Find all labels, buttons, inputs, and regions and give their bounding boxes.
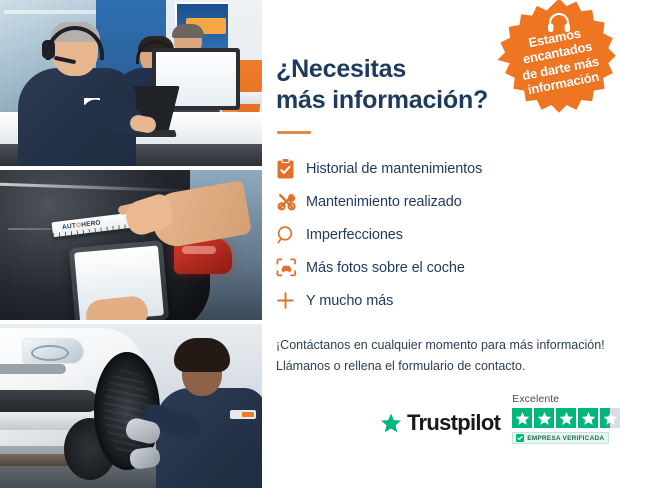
feature-label: Imperfecciones — [306, 227, 403, 243]
feature-label: Mantenimiento realizado — [306, 194, 462, 210]
autohero-more-info-banner: AUTOHERO — [0, 0, 650, 488]
rating-star-2 — [534, 408, 554, 428]
features-list: Historial de mantenimientos M — [276, 152, 650, 317]
feature-item-imperfections: Imperfecciones — [276, 218, 650, 251]
call-center-agents-photo — [0, 0, 262, 166]
rating-star-1 — [512, 408, 532, 428]
rating-star-3 — [556, 408, 576, 428]
title-divider — [277, 131, 311, 134]
car-photo-frame-icon — [276, 258, 306, 277]
car-damage-inspection-photo: AUTOHERO — [0, 170, 262, 320]
tools-cross-icon — [276, 191, 306, 212]
feature-item-more-photos: Más fotos sobre el coche — [276, 251, 650, 284]
verified-business-badge: EMPRESA VERIFICADA — [512, 432, 609, 444]
magnifier-icon — [276, 225, 306, 245]
trustpilot-star-icon — [380, 412, 402, 434]
feature-label: Y mucho más — [306, 293, 393, 309]
check-icon — [516, 434, 524, 442]
trustpilot-widget[interactable]: Trustpilot Excelente — [380, 393, 620, 444]
rating-star-4 — [578, 408, 598, 428]
star-rating — [512, 408, 620, 428]
contact-text: ¡Contáctanos en cualquier momento para m… — [276, 335, 650, 376]
feature-label: Más fotos sobre el coche — [306, 260, 465, 276]
trustpilot-rating: Excelente — [512, 393, 620, 444]
contact-line-1: ¡Contáctanos en cualquier momento para m… — [276, 335, 650, 356]
feature-item-much-more: Y mucho más — [276, 284, 650, 317]
content-panel: ¿Necesitas más información? Historial de… — [262, 0, 650, 488]
rating-star-5 — [600, 408, 620, 428]
verified-label: EMPRESA VERIFICADA — [527, 435, 604, 442]
trustpilot-wordmark: Trustpilot — [407, 410, 500, 436]
rating-label: Excelente — [512, 393, 559, 405]
photo-column: AUTOHERO — [0, 0, 262, 488]
info-badge: Estamos encantados de darte más informac… — [495, 0, 623, 124]
contact-line-2: Llámanos o rellena el formulario de cont… — [276, 356, 650, 377]
feature-label: Historial de mantenimientos — [306, 161, 482, 177]
mechanic-wheel-inspection-photo — [0, 324, 262, 488]
headline-line-1: ¿Necesitas — [276, 55, 406, 83]
clipboard-check-icon — [276, 158, 306, 179]
plus-icon — [276, 291, 306, 310]
feature-item-maintenance-history: Historial de mantenimientos — [276, 152, 650, 185]
trustpilot-logo: Trustpilot — [380, 410, 500, 444]
feature-item-maintenance-done: Mantenimiento realizado — [276, 185, 650, 218]
